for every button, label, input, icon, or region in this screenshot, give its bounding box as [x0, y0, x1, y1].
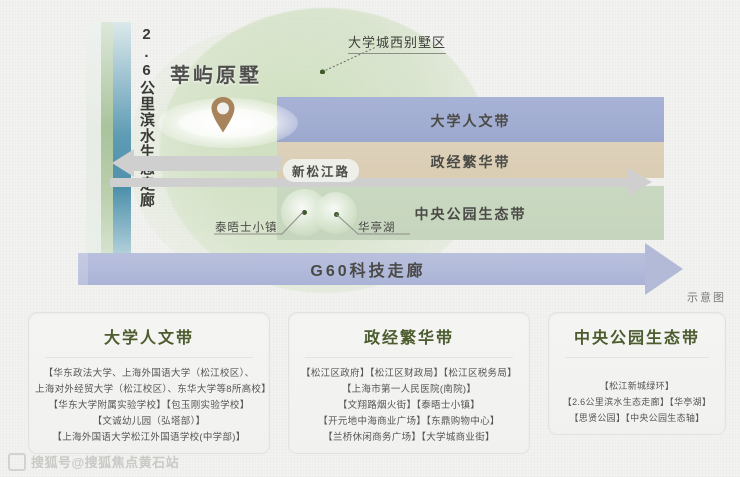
callout-huating-lake: 华亭湖 — [358, 219, 396, 235]
card-title-university-culture: 大学人文带 — [29, 313, 269, 357]
card-line: 【兰桥休闲商务广场】【大学城商业街】 — [295, 430, 523, 446]
gradient-strip-blue — [113, 22, 131, 274]
card-line: 【上海外国语大学松江外国语学校(中学部)】 — [35, 430, 263, 446]
road-label-xinsongjiang: 新松江路 — [283, 159, 359, 182]
gradient-strip-pale — [86, 22, 101, 274]
corridor-label-g60: G60科技走廊 — [88, 253, 648, 285]
card-title-central-park-eco: 中央公园生态带 — [549, 313, 725, 357]
watermark: 搜狐号@搜狐焦点黄石站 — [8, 452, 179, 471]
callout-university-villa-district: 大学城西别墅区 — [348, 32, 446, 54]
road-arrow-head-icon — [628, 168, 652, 196]
card-line: 【文诚幼儿园（弘塔部）】 — [35, 414, 263, 430]
legend-cards: 大学人文带 【华东政法大学、上海外国语大学（松江校区）、 上海对外经贸大学（松江… — [0, 312, 740, 452]
schematic-note: 示意图 — [687, 289, 726, 305]
card-body-central-park-eco: 【松江新城绿环】 【2.6公里滨水生态走廊】【华亭湖】 【思贤公园】【中央公园生… — [549, 358, 725, 432]
corridor-arrow-head-icon — [645, 243, 683, 295]
card-line: 【松江区政府】【松江区财政局】【松江区税务局】 — [295, 366, 523, 382]
card-body-university-culture: 【华东政法大学、上海外国语大学（松江校区）、 上海对外经贸大学（松江校区）、东华… — [29, 358, 269, 452]
watermark-text: 搜狐号@搜狐焦点黄石站 — [31, 452, 179, 471]
card-line: 【华东大学附属实验学校】【包玉刚实验学校】 — [35, 398, 263, 414]
sohu-logo-icon — [8, 453, 26, 471]
gradient-strip-green — [101, 22, 113, 274]
map-pin-icon — [209, 96, 237, 134]
card-line: 【松江新城绿环】 — [555, 378, 719, 394]
left-arrow-head-icon — [112, 149, 134, 177]
card-title-government-commerce: 政经繁华带 — [289, 313, 529, 357]
band-label-university-culture: 大学人文带 — [277, 111, 664, 131]
card-line: 【思贤公园】【中央公园生态轴】 — [555, 410, 719, 426]
card-line: 【上海市第一人民医院(南院)】 — [295, 382, 523, 398]
card-line: 【开元地中海商业广场】【东鼎购物中心】 — [295, 414, 523, 430]
card-university-culture: 大学人文带 【华东政法大学、上海外国语大学（松江校区）、 上海对外经贸大学（松江… — [28, 312, 270, 454]
card-line: 【2.6公里滨水生态走廊】【华亭湖】 — [555, 394, 719, 410]
card-line: 【华东政法大学、上海外国语大学（松江校区）、 — [35, 366, 263, 382]
band-university-culture: 大学人文带 — [277, 97, 664, 142]
left-arrow-shaft — [131, 156, 281, 171]
card-government-commerce: 政经繁华带 【松江区政府】【松江区财政局】【松江区税务局】 【上海市第一人民医院… — [288, 312, 530, 454]
callout-thames-town: 泰晤士小镇 — [215, 219, 278, 235]
card-central-park-eco: 中央公园生态带 【松江新城绿环】 【2.6公里滨水生态走廊】【华亭湖】 【思贤公… — [548, 312, 726, 435]
card-line: 【文翔路烟火街】【泰晤士小镇】 — [295, 398, 523, 414]
card-line: 上海对外经贸大学（松江校区）、东华大学等8所高校】 — [35, 382, 263, 398]
project-name-label: 莘屿原墅 — [170, 59, 262, 88]
diagram-stage: 2.6公里滨水生态走廊 大学人文带 政经繁华带 中央公园生态带 新松江路 莘屿原… — [0, 0, 740, 310]
card-body-government-commerce: 【松江区政府】【松江区财政局】【松江区税务局】 【上海市第一人民医院(南院)】 … — [289, 358, 529, 452]
road-shaft — [110, 178, 630, 187]
